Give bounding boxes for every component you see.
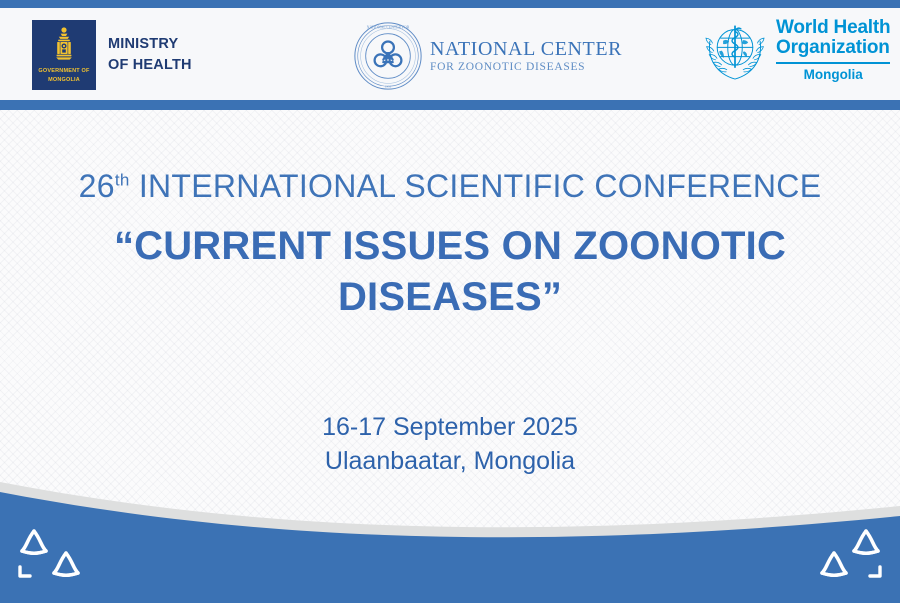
crest-country-label: MONGOLIA <box>32 77 96 83</box>
crest-government-label: GOVERNMENT OF <box>32 68 96 74</box>
svg-text:NATIONAL CENTER FOR: NATIONAL CENTER FOR <box>367 26 410 30</box>
conference-theme-line2: DISEASES” <box>0 272 900 323</box>
conference-label: INTERNATIONAL SCIENTIFIC CONFERENCE <box>139 168 822 204</box>
ministry-name: MINISTRY OF HEALTH <box>108 34 192 75</box>
conference-theme: “CURRENT ISSUES ON ZOONOTIC DISEASES” <box>0 221 900 323</box>
who-logo: World Health Organization Mongolia <box>702 18 890 82</box>
conference-heading: 26th INTERNATIONAL SCIENTIFIC CONFERENCE <box>0 168 900 205</box>
conference-theme-line1: “CURRENT ISSUES ON ZOONOTIC <box>0 221 900 272</box>
soyombo-emblem-icon <box>49 26 79 68</box>
svg-text:1951: 1951 <box>385 85 392 89</box>
national-center-name-line1: NATIONAL CENTER <box>430 39 622 59</box>
header-divider-bar <box>0 100 900 110</box>
triquetra-knot-ornament-right-icon <box>804 523 886 585</box>
ministry-name-line1: MINISTRY <box>108 34 192 55</box>
government-of-mongolia-crest: GOVERNMENT OF MONGOLIA <box>32 20 96 90</box>
conference-number: 26 <box>79 168 115 204</box>
conference-title-block: 26th INTERNATIONAL SCIENTIFIC CONFERENCE… <box>0 168 900 323</box>
bottom-wave-decoration <box>0 458 900 603</box>
who-divider-rule <box>776 62 890 64</box>
national-center-name: NATIONAL CENTER FOR ZOONOTIC DISEASES <box>430 39 622 74</box>
who-country-label: Mongolia <box>776 68 890 82</box>
who-name-line2: Organization <box>776 38 890 57</box>
who-name: World Health Organization Mongolia <box>776 18 890 82</box>
conference-title-slide: GOVERNMENT OF MONGOLIA MINISTRY OF HEALT… <box>0 0 900 603</box>
ministry-name-line2: OF HEALTH <box>108 55 192 76</box>
triquetra-knot-ornament-left-icon <box>14 523 96 585</box>
national-center-logo: NATIONAL CENTER FOR 1951 NATIONAL CENTER… <box>352 20 622 92</box>
conference-ordinal: th <box>115 170 130 189</box>
ministry-of-health-logo: GOVERNMENT OF MONGOLIA MINISTRY OF HEALT… <box>32 20 192 90</box>
national-center-name-line2: FOR ZOONOTIC DISEASES <box>430 62 622 74</box>
who-emblem-icon <box>702 18 768 82</box>
top-accent-bar <box>0 0 900 8</box>
conference-dates: 16-17 September 2025 <box>0 410 900 444</box>
who-name-line1: World Health <box>776 18 890 37</box>
biohazard-seal-icon: NATIONAL CENTER FOR 1951 <box>352 20 424 92</box>
